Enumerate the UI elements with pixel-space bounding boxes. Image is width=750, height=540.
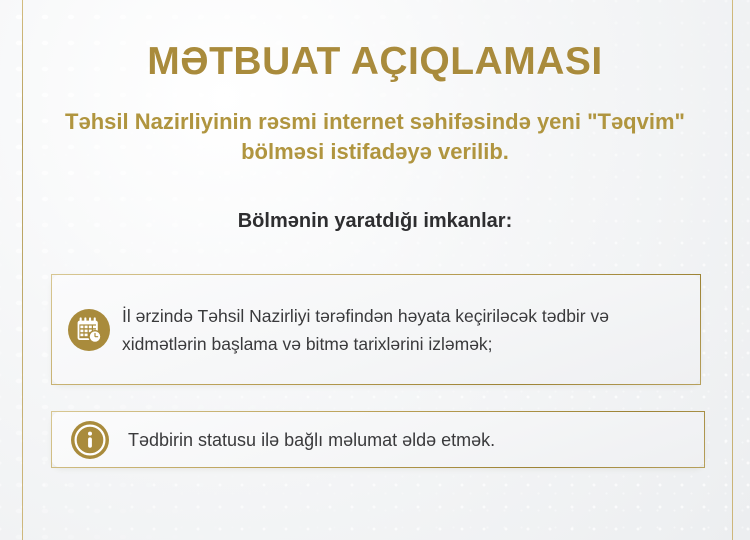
list-item: Tədbirin statusu ilə bağlı məlumat əldə … — [51, 411, 705, 468]
subtitle: Təhsil Nazirliyinin rəsmi internet səhif… — [60, 107, 690, 167]
list-item-text: İl ərzində Təhsil Nazirliyi tərəfindən h… — [122, 301, 700, 358]
calendar-clock-icon — [67, 308, 111, 352]
list-item-text: Tədbirin statusu ilə bağlı məlumat əldə … — [128, 426, 509, 454]
list-item: İl ərzində Təhsil Nazirliyi tərəfindən h… — [51, 274, 701, 385]
info-circle-icon — [68, 418, 112, 462]
section-heading: Bölmənin yaratdığı imkanlar: — [60, 208, 690, 234]
page-title: MƏTBUAT AÇIQLAMASI — [0, 40, 750, 84]
poster-content: MƏTBUAT AÇIQLAMASI Təhsil Nazirliyinin r… — [0, 0, 750, 540]
press-release-poster: MƏTBUAT AÇIQLAMASI Təhsil Nazirliyinin r… — [0, 0, 750, 540]
